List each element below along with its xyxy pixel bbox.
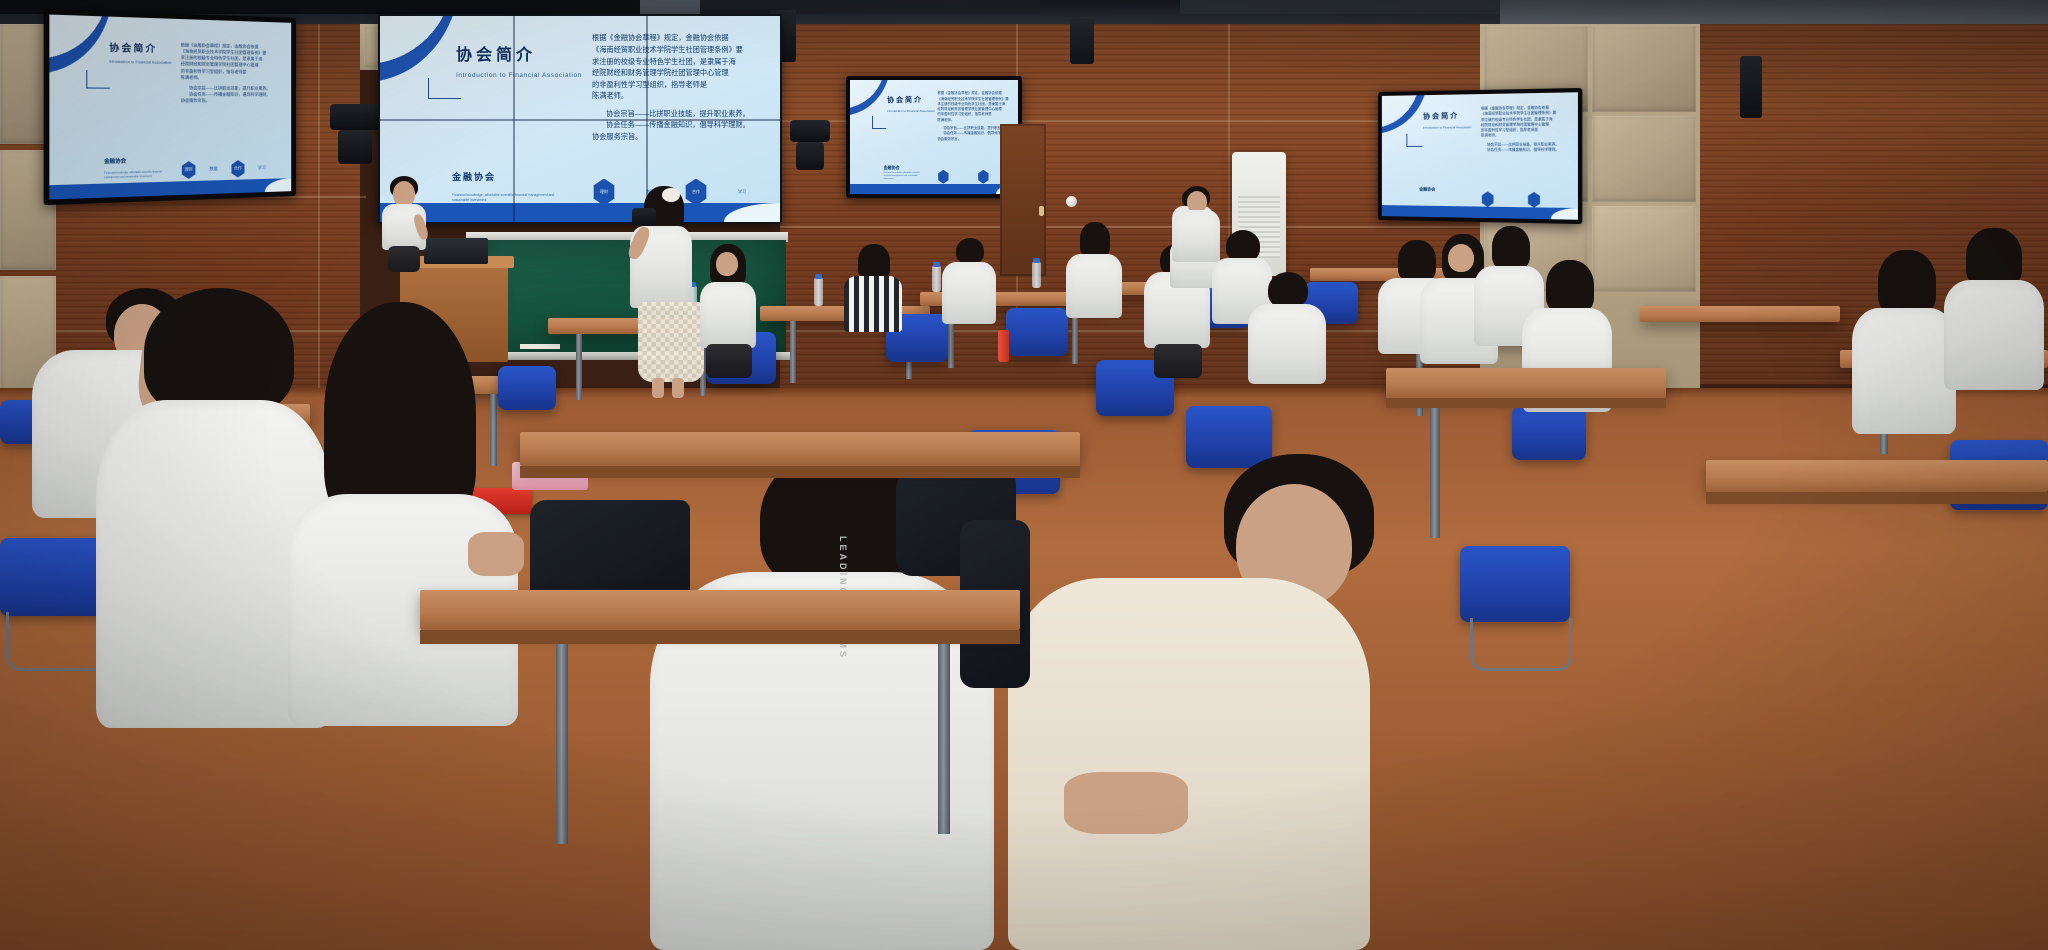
chair-back[interactable]	[1006, 308, 1068, 356]
desk-right-1	[1640, 306, 1840, 322]
student-foreground-longhair	[288, 302, 518, 726]
slide-bracket-decor	[86, 71, 110, 89]
slide-arc-decor	[49, 15, 111, 75]
torso-white-shirt	[1248, 304, 1326, 384]
student-right-4	[1520, 260, 1616, 450]
student-seated-1	[692, 244, 764, 384]
desk-right-foreground	[1386, 368, 1666, 398]
book-icon: 学习	[730, 179, 754, 206]
slide-bracket-decor-fr	[1406, 134, 1422, 147]
head	[1448, 244, 1474, 272]
chair-frame	[6, 612, 110, 671]
desk-edge	[1386, 398, 1666, 408]
leg	[652, 378, 664, 398]
video-camera-left	[330, 104, 382, 130]
slide-org-name-main: 金融协会	[452, 170, 496, 183]
handshake-icon: 合作	[230, 160, 245, 178]
presenter	[374, 176, 434, 272]
arm	[468, 532, 524, 576]
piggy-bank-icon	[937, 170, 949, 184]
book-icon	[1551, 192, 1565, 208]
slide-title: 协会简介	[109, 40, 157, 55]
desk-far-right-foreground	[1706, 460, 2048, 492]
hair	[1966, 228, 2022, 288]
slide-subtitle-main: Introduction to Financial Association	[456, 72, 582, 79]
desk-leg	[576, 334, 582, 400]
arm	[1064, 772, 1188, 834]
ceiling-strip-mid	[700, 0, 1040, 14]
video-camera-right-body	[796, 142, 824, 170]
torso-white-shirt	[1066, 254, 1122, 318]
slide-footer-band-main	[380, 203, 780, 222]
wood-seam-r2	[780, 226, 1480, 228]
hair	[1080, 222, 1110, 258]
trousers	[388, 246, 420, 272]
slide-icon-row: 理财 数据 合作 学习	[181, 159, 270, 179]
stone-panel-fr2	[1592, 26, 1696, 112]
torso-white-shirt	[1944, 280, 2044, 390]
slide-icon-row-r	[937, 170, 1009, 184]
student-back-7	[1246, 272, 1330, 408]
piggy-bank-icon	[1481, 191, 1494, 207]
slide-bracket-decor-main	[428, 78, 461, 100]
chair-back[interactable]	[0, 538, 110, 616]
head	[716, 252, 738, 276]
torso-white-shirt	[942, 262, 996, 324]
chart-icon: 数据	[206, 160, 221, 178]
slide-subtitle: Introduction to Financial Association	[109, 60, 171, 65]
student-foreground-right	[1008, 454, 1370, 950]
student-far-right-2	[1944, 228, 2048, 428]
torso-white-shirt	[1852, 308, 1956, 434]
book-icon: 学习	[254, 159, 269, 177]
water-bottle	[998, 330, 1009, 362]
main-video-wall[interactable]: 协会简介 Introduction to Financial Associati…	[378, 14, 782, 224]
wooden-door[interactable]	[1000, 124, 1046, 276]
desk-edge	[420, 630, 1020, 644]
student-back-2	[938, 238, 1000, 334]
hair	[1546, 260, 1594, 314]
stone-panel-fr4	[1592, 116, 1696, 202]
handshake-icon	[1527, 192, 1541, 208]
door-handle[interactable]	[1039, 206, 1044, 216]
hair	[1878, 250, 1936, 316]
slide-subtitle-r: Introduction to Financial Association	[887, 109, 935, 113]
bottle-cap	[815, 274, 822, 279]
slide-subtitle-fr: Introduction to Financial Association	[1423, 125, 1471, 130]
desk-leg	[938, 644, 950, 834]
wall-speaker-right	[1740, 56, 1762, 118]
ceiling-dome-fixture	[1066, 196, 1077, 207]
slide-arc-decor-main	[380, 16, 460, 82]
torso-white-shirt	[1172, 210, 1220, 262]
slide-body: 根据《金融协会章程》规定，金融协会依据 《海南经贸职业技术学院学生社团管理条例》…	[181, 42, 271, 105]
desk-edge	[520, 466, 1080, 478]
slide-body-main: 根据《金融协会章程》规定，金融协会依据 《海南经贸职业技术学院学生社团管理条例》…	[592, 32, 750, 142]
desk-leg	[790, 321, 796, 383]
video-camera-right	[790, 120, 830, 142]
piggy-bank-icon: 理财	[181, 161, 197, 179]
student-back-3	[1062, 222, 1126, 328]
leg	[672, 378, 684, 398]
classroom-photo: 协会简介 Introduction to Financial Associati…	[0, 0, 2048, 950]
slide-footer-band-r	[850, 184, 1018, 194]
chair-back[interactable]	[1460, 546, 1570, 622]
slide-right: 协会简介 Introduction to Financial Associati…	[850, 80, 1018, 194]
slide-org-name-en-main: Financial knowledge, affordable scientif…	[452, 193, 572, 203]
trousers	[1154, 344, 1202, 378]
desk-leg	[1430, 408, 1440, 538]
hair-clip	[662, 188, 680, 202]
videowall-seam-h1	[380, 119, 780, 121]
slide-icon-row-fr	[1481, 191, 1565, 208]
torso-striped-shirt	[844, 276, 902, 332]
ceiling-soffit	[1500, 0, 2048, 26]
slide-main: 协会简介 Introduction to Financial Associati…	[380, 16, 780, 222]
student-striped	[838, 244, 908, 334]
torso-beige-shirt	[1008, 578, 1370, 950]
chair-frame	[1470, 618, 1572, 671]
slide-farright: 协会简介 Introduction to Financial Associati…	[1382, 92, 1578, 219]
bottle-cap	[1033, 258, 1040, 263]
slide-title-fr: 协会简介	[1423, 110, 1459, 121]
piggy-bank-icon: 理财	[592, 179, 616, 206]
skirt	[706, 344, 752, 378]
slide-org-name: 金融协会	[104, 157, 126, 165]
right-wall-tv[interactable]: 协会简介 Introduction to Financial Associati…	[846, 76, 1022, 198]
slide-bracket-decor-r	[872, 116, 886, 128]
slide-body-fr: 根据《金融协会章程》规定，金融协会依据 《海南经贸职业技术学院学生社团管理条例》…	[1481, 105, 1559, 153]
desk-foreground-center	[520, 432, 1080, 466]
slide-org-name-en-r: Financial knowledge, affordable scientif…	[884, 172, 928, 181]
desk-leg	[556, 644, 568, 844]
slide-org-name-en: Financial knowledge, affordable scientif…	[104, 170, 169, 179]
chalk-eraser	[520, 344, 560, 349]
desk-foreground-front	[420, 590, 1020, 630]
slide-left: 协会简介 Introduction to Financial Associati…	[49, 15, 291, 200]
slide-org-name-r: 金融协会	[884, 165, 900, 171]
slide-title-main: 协会简介	[456, 41, 536, 65]
man-white-shirt-right	[1172, 186, 1222, 278]
chart-icon	[957, 170, 969, 184]
slide-footer-band	[49, 178, 291, 200]
torso-white-shirt	[700, 282, 756, 348]
handheld-camera	[632, 208, 656, 226]
wall-speaker-center	[1070, 18, 1094, 64]
water-bottle	[814, 278, 823, 306]
slide-org-name-fr: 金融协会	[1419, 186, 1435, 192]
water-bottle	[1032, 262, 1041, 288]
hair	[144, 288, 294, 416]
hair	[858, 244, 890, 280]
video-camera-left-body	[338, 130, 372, 164]
hair	[956, 238, 984, 264]
slide-footer-band-fr	[1382, 205, 1578, 219]
handshake-icon	[977, 170, 989, 184]
slide-title-r: 协会简介	[887, 95, 923, 105]
chart-icon	[1504, 192, 1518, 208]
desk-edge	[1706, 492, 2048, 504]
left-wall-tv[interactable]: 协会简介 Introduction to Financial Associati…	[44, 9, 296, 205]
hair	[1268, 272, 1308, 308]
slide-arc-decor-fr	[1382, 92, 1427, 134]
slide-arc-decor-r	[850, 80, 890, 116]
far-right-tv[interactable]: 协会简介 Introduction to Financial Associati…	[1378, 88, 1582, 224]
